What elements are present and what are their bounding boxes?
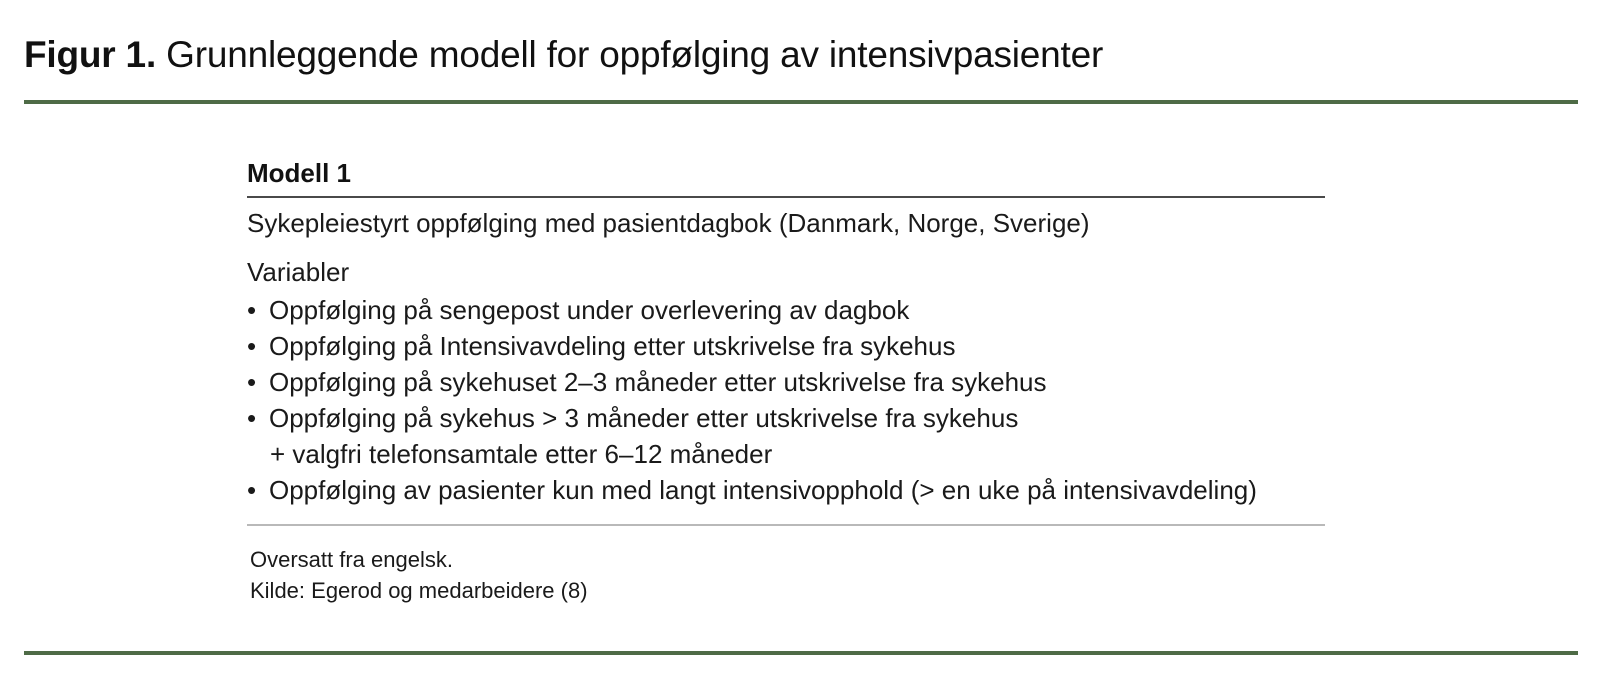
list-item-label: Oppfølging på Intensivavdeling etter uts… bbox=[269, 331, 955, 361]
bullet-icon: • bbox=[247, 472, 256, 508]
top-green-divider bbox=[24, 100, 1578, 104]
list-item-label: Oppfølging på sykehuset 2–3 måneder ette… bbox=[269, 367, 1047, 397]
figure-title: Figur 1. Grunnleggende modell for oppføl… bbox=[24, 33, 1103, 77]
model-subtitle: Sykepleiestyrt oppfølging med pasientdag… bbox=[247, 198, 1325, 239]
list-item: • Oppfølging på sykehuset 2–3 måneder et… bbox=[247, 364, 1325, 400]
model-heading: Modell 1 bbox=[247, 157, 1325, 196]
list-item-label: Oppfølging av pasienter kun med langt in… bbox=[269, 475, 1257, 505]
source-note: Kilde: Egerod og medarbeidere (8) bbox=[250, 575, 1325, 606]
figure-caption: Grunnleggende modell for oppfølging av i… bbox=[166, 34, 1103, 75]
variables-label: Variabler bbox=[247, 239, 1325, 288]
bullet-icon: • bbox=[247, 328, 256, 364]
list-item: • Oppfølging på sengepost under overleve… bbox=[247, 292, 1325, 328]
list-item-label: Oppfølging på sykehus > 3 måneder etter … bbox=[269, 403, 1018, 433]
footnote-block: Oversatt fra engelsk. Kilde: Egerod og m… bbox=[247, 526, 1325, 606]
figure-container: Figur 1. Grunnleggende modell for oppføl… bbox=[0, 0, 1600, 698]
list-item: • Oppfølging av pasienter kun med langt … bbox=[247, 472, 1325, 508]
list-item-label: Oppfølging på sengepost under overleveri… bbox=[269, 295, 909, 325]
bullet-icon: • bbox=[247, 364, 256, 400]
figure-number: Figur 1. bbox=[24, 34, 156, 75]
bullet-icon: • bbox=[247, 400, 256, 436]
bullet-icon: • bbox=[247, 292, 256, 328]
list-item: • Oppfølging på sykehus > 3 måneder ette… bbox=[247, 400, 1325, 472]
list-item-sublabel: + valgfri telefonsamtale etter 6–12 måne… bbox=[269, 436, 1325, 472]
translation-note: Oversatt fra engelsk. bbox=[250, 544, 1325, 575]
list-item: • Oppfølging på Intensivavdeling etter u… bbox=[247, 328, 1325, 364]
model-box: Modell 1 Sykepleiestyrt oppfølging med p… bbox=[247, 157, 1325, 606]
bottom-green-divider bbox=[24, 651, 1578, 655]
variables-list: • Oppfølging på sengepost under overleve… bbox=[247, 288, 1325, 508]
